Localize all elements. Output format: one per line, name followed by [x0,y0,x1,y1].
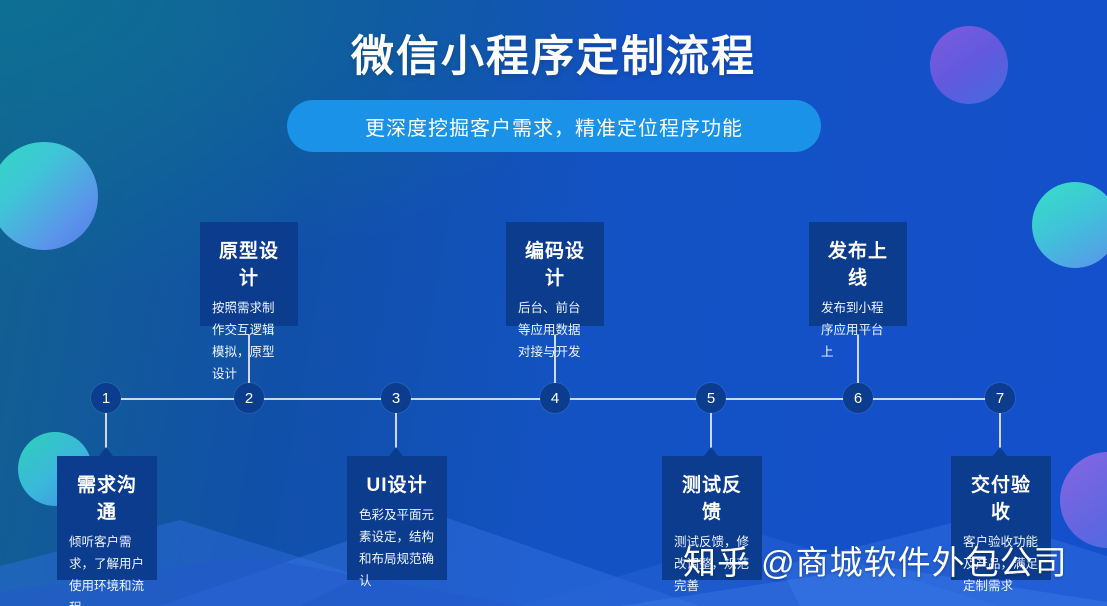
step-card-2-title: 原型设计 [212,236,286,290]
step-card-6-desc: 发布到小程序应用平台上 [821,298,895,364]
node-number-2: 2 [245,390,253,407]
node-number-5: 5 [707,390,715,407]
step-card-5-title: 测试反馈 [674,470,750,524]
step-card-6[interactable]: 发布上线 发布到小程序应用平台上 [809,222,907,326]
step-card-3-title: UI设计 [359,470,435,497]
node-number-4: 4 [551,390,559,407]
timeline-node-3[interactable]: 3 [381,383,411,413]
node-number-6: 6 [854,390,862,407]
decor-circle-teal-right [1032,182,1107,268]
step-card-4-desc: 后台、前台等应用数据对接与开发 [518,298,592,364]
step-card-2[interactable]: 原型设计 按照需求制作交互逻辑模拟，原型设计 [200,222,298,326]
node-number-3: 3 [392,390,400,407]
timeline-node-7[interactable]: 7 [985,383,1015,413]
timeline-node-1[interactable]: 1 [91,383,121,413]
node-number-1: 1 [102,390,110,407]
connector-pointer-1 [99,447,113,456]
connector-pointer-3 [389,447,403,456]
connector-pointer-7 [993,447,1007,456]
timeline-node-5[interactable]: 5 [696,383,726,413]
step-card-3-desc: 色彩及平面元素设定，结构和布局规范确认 [359,505,435,593]
timeline-node-4[interactable]: 4 [540,383,570,413]
step-card-6-title: 发布上线 [821,236,895,290]
step-card-1-desc: 倾听客户需求，了解用户使用环境和流程 [69,532,145,606]
infographic-poster: 微信小程序定制流程 更深度挖掘客户需求，精准定位程序功能 1 2 3 4 5 6… [0,0,1107,606]
watermark-text: 知乎 @商城软件外包公司 [683,536,1068,584]
subtitle-pill: 更深度挖掘客户需求，精准定位程序功能 [287,100,821,152]
page-title: 微信小程序定制流程 [0,22,1107,84]
step-card-3[interactable]: UI设计 色彩及平面元素设定，结构和布局规范确认 [347,456,447,580]
timeline-node-2[interactable]: 2 [234,383,264,413]
connector-pointer-5 [704,447,718,456]
step-card-2-desc: 按照需求制作交互逻辑模拟，原型设计 [212,298,286,386]
subtitle-text: 更深度挖掘客户需求，精准定位程序功能 [365,112,743,141]
decor-circle-teal-left [0,142,98,250]
step-card-7-title: 交付验收 [963,470,1039,524]
step-card-1[interactable]: 需求沟通 倾听客户需求，了解用户使用环境和流程 [57,456,157,580]
node-number-7: 7 [996,390,1004,407]
step-card-4[interactable]: 编码设计 后台、前台等应用数据对接与开发 [506,222,604,326]
step-card-4-title: 编码设计 [518,236,592,290]
timeline-node-6[interactable]: 6 [843,383,873,413]
step-card-1-title: 需求沟通 [69,470,145,524]
